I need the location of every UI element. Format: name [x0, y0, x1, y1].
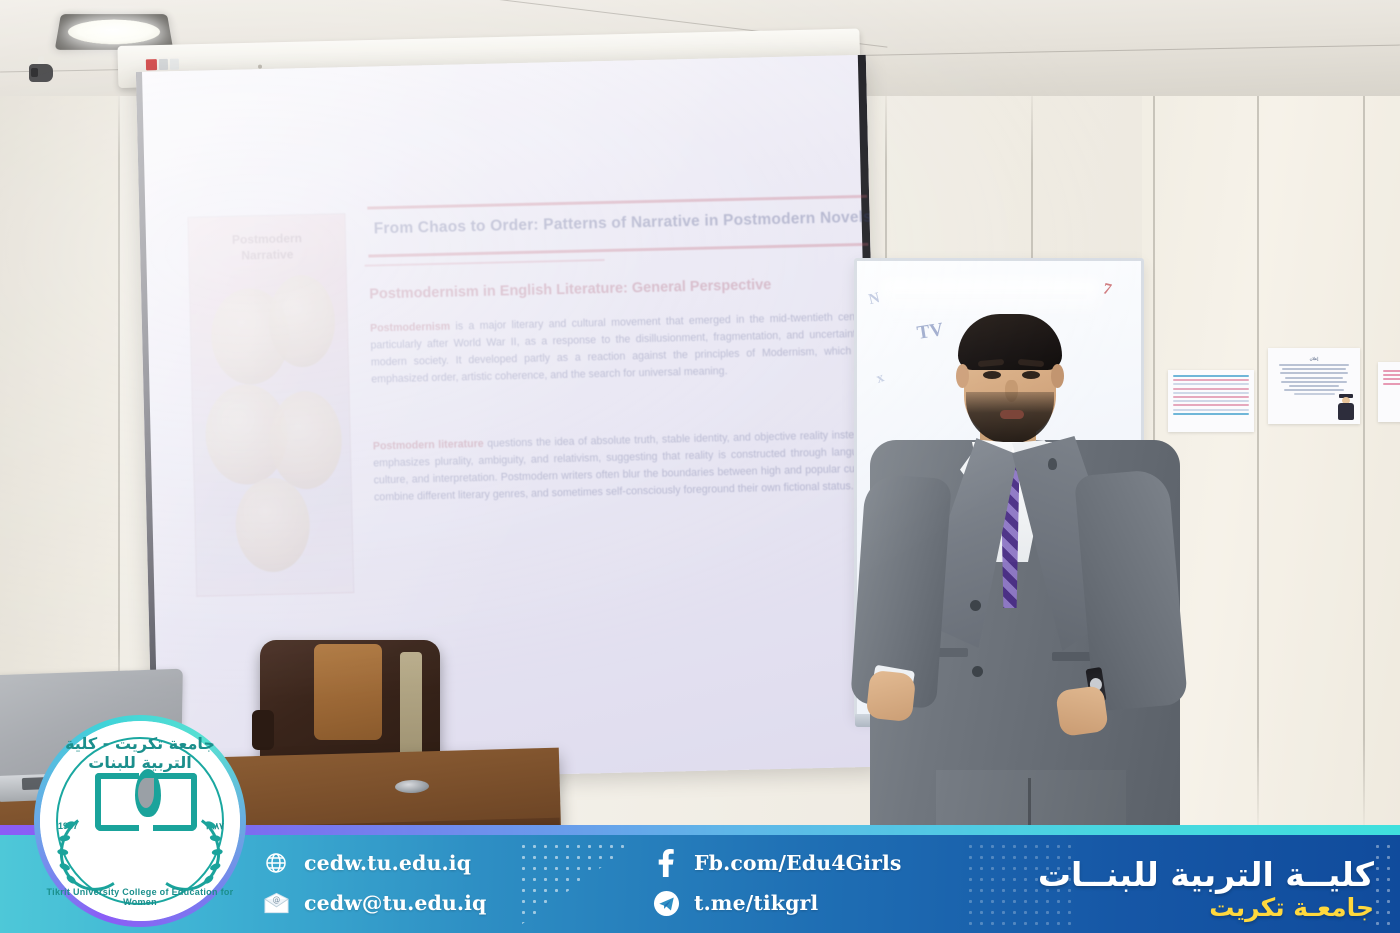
footer-email-row[interactable]: @ cedw@tu.edu.iq — [258, 883, 588, 923]
wall-panel-seam — [118, 80, 120, 720]
footer-social-group: Fb.com/Edu4Girls t.me/tikgrl — [648, 843, 1018, 923]
chair-armrest — [252, 710, 274, 750]
poster-heading: إعلان — [1272, 356, 1356, 361]
footer-facebook-row[interactable]: Fb.com/Edu4Girls — [648, 843, 1018, 883]
projected-slide: PostmodernNarrative From Chaos to Order:… — [177, 187, 877, 623]
logo-english-text: Tikrit University College of Education f… — [40, 887, 240, 907]
presenter-hair — [958, 314, 1062, 370]
telegram-icon — [648, 890, 684, 917]
pink-list-poster — [1378, 362, 1400, 422]
security-camera-icon — [29, 56, 53, 82]
footer-website-row[interactable]: cedw.tu.edu.iq — [258, 843, 588, 883]
logo-arabic-text: جامعة تكريت - كلية التربية للبنات — [40, 734, 240, 772]
presenter-suit-button — [970, 600, 981, 611]
logo-woman-face-icon — [135, 769, 161, 817]
projection-screen: PostmodernNarrative From Chaos to Order:… — [136, 55, 883, 784]
logo-disc: جامعة تكريت - كلية التربية للبنات 1987 ١… — [40, 721, 240, 921]
chair-headrest-panel — [314, 644, 382, 740]
brand-university-name: جامعـة تكريت — [1038, 894, 1374, 923]
presenter-suit-button — [972, 666, 983, 677]
footer-telegram-row[interactable]: t.me/tikgrl — [648, 883, 1018, 923]
decorative-dot-pattern — [1372, 841, 1398, 927]
slide-heading: Postmodernism in English Literature: Gen… — [369, 275, 869, 303]
screenshot-root: PostmodernNarrative From Chaos to Order:… — [0, 0, 1400, 933]
svg-text:@: @ — [272, 895, 280, 904]
envelope-icon: @ — [258, 892, 294, 914]
presenter-hand-left — [866, 670, 917, 723]
whiteboard-mark: 7 — [1101, 280, 1113, 299]
slide-rule-under-title — [368, 243, 868, 258]
presenter-hand-right — [1055, 685, 1109, 737]
slide-title: From Chaos to Order: Patterns of Narrati… — [374, 209, 874, 239]
poster-text-lines — [1273, 364, 1355, 398]
presenter-lapel-pin — [1048, 458, 1057, 470]
presenter-person — [852, 300, 1192, 840]
arabic-announcement-poster: إعلان — [1268, 348, 1360, 424]
brand-college-name: كليــة التربية للبنــات — [1038, 857, 1374, 894]
left-wall-column — [0, 78, 118, 678]
slide-rule-accent — [365, 259, 605, 267]
facebook-label: Fb.com/Edu4Girls — [694, 851, 902, 875]
footer-contact-group: cedw.tu.edu.iq @ cedw@tu.edu.iq — [258, 843, 588, 923]
slide-rule-top — [367, 195, 867, 210]
wall-panel-seam — [1257, 0, 1259, 838]
brand-block: كليــة التربية للبنــات جامعـة تكريت — [1038, 857, 1374, 923]
globe-icon — [258, 851, 294, 875]
graduate-figure-icon — [1338, 394, 1354, 420]
slide-book-cover-image: PostmodernNarrative — [187, 213, 354, 597]
logo-outer-ring: جامعة تكريت - كلية التربية للبنات 1987 ١… — [34, 715, 246, 927]
book-cover-title: PostmodernNarrative — [189, 230, 346, 265]
wall-panel-seam — [1363, 0, 1365, 838]
poster-list-rows — [1383, 370, 1400, 387]
telegram-label: t.me/tikgrl — [694, 891, 818, 915]
university-logo: جامعة تكريت - كلية التربية للبنات 1987 ١… — [34, 715, 246, 927]
slide-paragraph-1: Postmodernism is a major literary and cu… — [370, 309, 876, 390]
facebook-icon — [648, 849, 684, 877]
email-label: cedw@tu.edu.iq — [304, 891, 486, 915]
website-label: cedw.tu.edu.iq — [304, 851, 471, 875]
slide-paragraph-1-lead: Postmodernism — [370, 321, 450, 335]
chair-side-trim — [400, 652, 422, 764]
slide-paragraph-2-lead: Postmodern literature — [373, 438, 484, 453]
slide-paragraph-2: Postmodern literature questions the idea… — [373, 427, 879, 508]
